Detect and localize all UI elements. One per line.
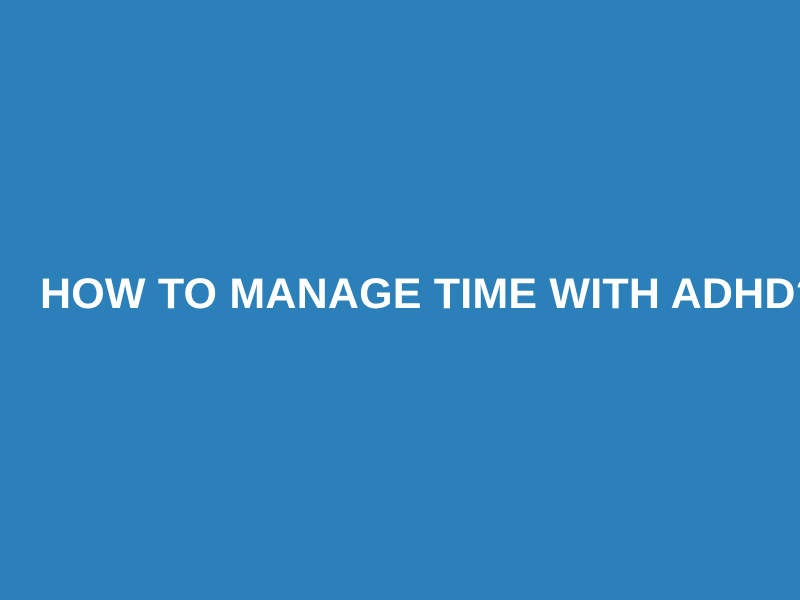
page-title: How To Manage Time With ADHD? (40, 271, 760, 317)
featured-image-banner: How To Manage Time With ADHD? (0, 0, 800, 600)
banner-title-container: How To Manage Time With ADHD? (0, 271, 800, 317)
